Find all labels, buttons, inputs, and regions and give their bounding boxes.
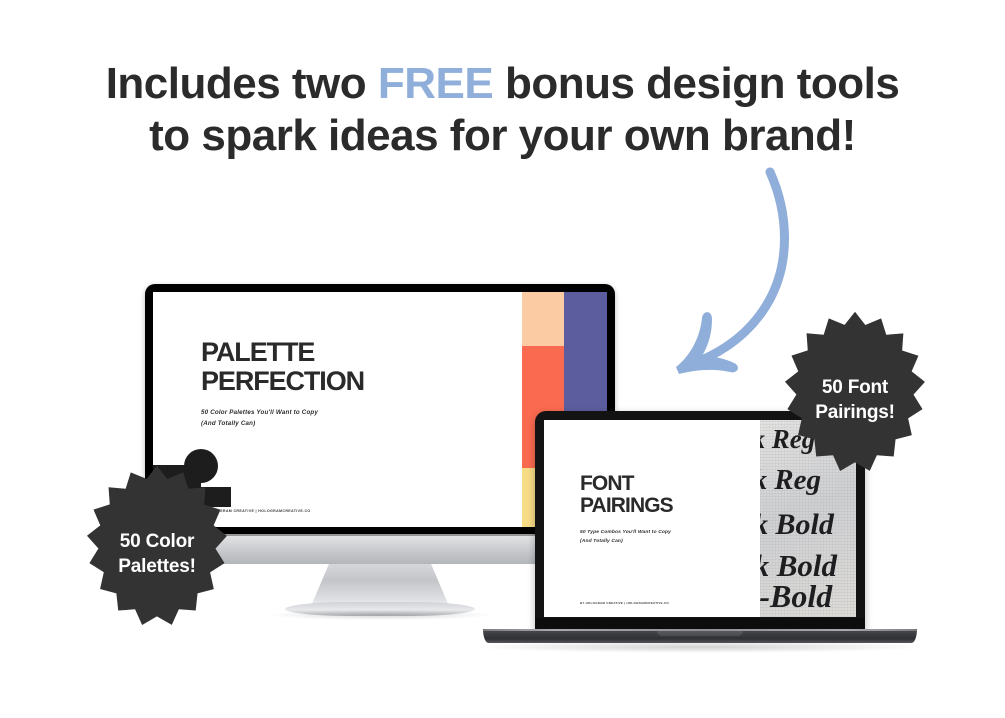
font-slide-subtitle: 50 Type Combos You'll Want to Copy (And … <box>580 529 760 547</box>
monitor-stand-neck <box>311 564 449 606</box>
headline-line2: to spark ideas for your own brand! <box>0 110 1005 162</box>
font-slide-footer: BY HOLOGRAM CREATIVE | HOLOGRAMCREATIVE.… <box>580 601 669 605</box>
font-subtitle-line1: 50 Type Combos You'll Want to Copy <box>580 529 760 538</box>
monitor-shadow <box>270 610 492 620</box>
font-slide-content: FONT PAIRINGS 50 Type Combos You'll Want… <box>544 420 760 617</box>
laptop-base-notch <box>657 631 743 636</box>
specimen-line-3: ok Bold <box>760 508 834 542</box>
swatch-peach <box>522 292 564 346</box>
starburst-shape <box>785 312 925 471</box>
promo-graphic: Includes two FREE bonus design tools to … <box>0 0 1005 718</box>
headline-highlight-free: FREE <box>378 59 493 108</box>
palette-title-line2: PERFECTION <box>201 367 522 396</box>
palette-slide-subtitle: 50 Color Palettes You'll Want to Copy (A… <box>201 408 522 430</box>
headline-text-before: Includes two <box>106 59 378 108</box>
headline-text-after: bonus design tools <box>493 59 899 108</box>
palette-slide-title: PALETTE PERFECTION <box>201 338 522 395</box>
starburst-icon <box>762 308 948 494</box>
font-title-line2: PAIRINGS <box>580 495 760 517</box>
starburst-shape <box>87 466 227 625</box>
specimen-line-5: X-Bold <box>760 578 832 615</box>
badge-color-palettes: 50 Color Palettes! <box>64 462 250 648</box>
swatch-indigo <box>564 292 607 426</box>
headline-line1: Includes two FREE bonus design tools <box>106 59 900 108</box>
palette-subtitle-line1: 50 Color Palettes You'll Want to Copy <box>201 408 522 419</box>
starburst-icon <box>64 462 250 648</box>
palette-title-line1: PALETTE <box>201 338 522 367</box>
font-subtitle-line2: (And Totally Can) <box>580 538 760 547</box>
font-title-line1: FONT <box>580 473 760 495</box>
palette-subtitle-line2: (And Totally Can) <box>201 419 522 430</box>
page-title: Includes two FREE bonus design tools to … <box>0 58 1005 162</box>
font-slide-title: FONT PAIRINGS <box>580 473 760 518</box>
badge-font-pairings: 50 Font Pairings! <box>762 308 948 494</box>
laptop-shadow <box>470 641 930 653</box>
